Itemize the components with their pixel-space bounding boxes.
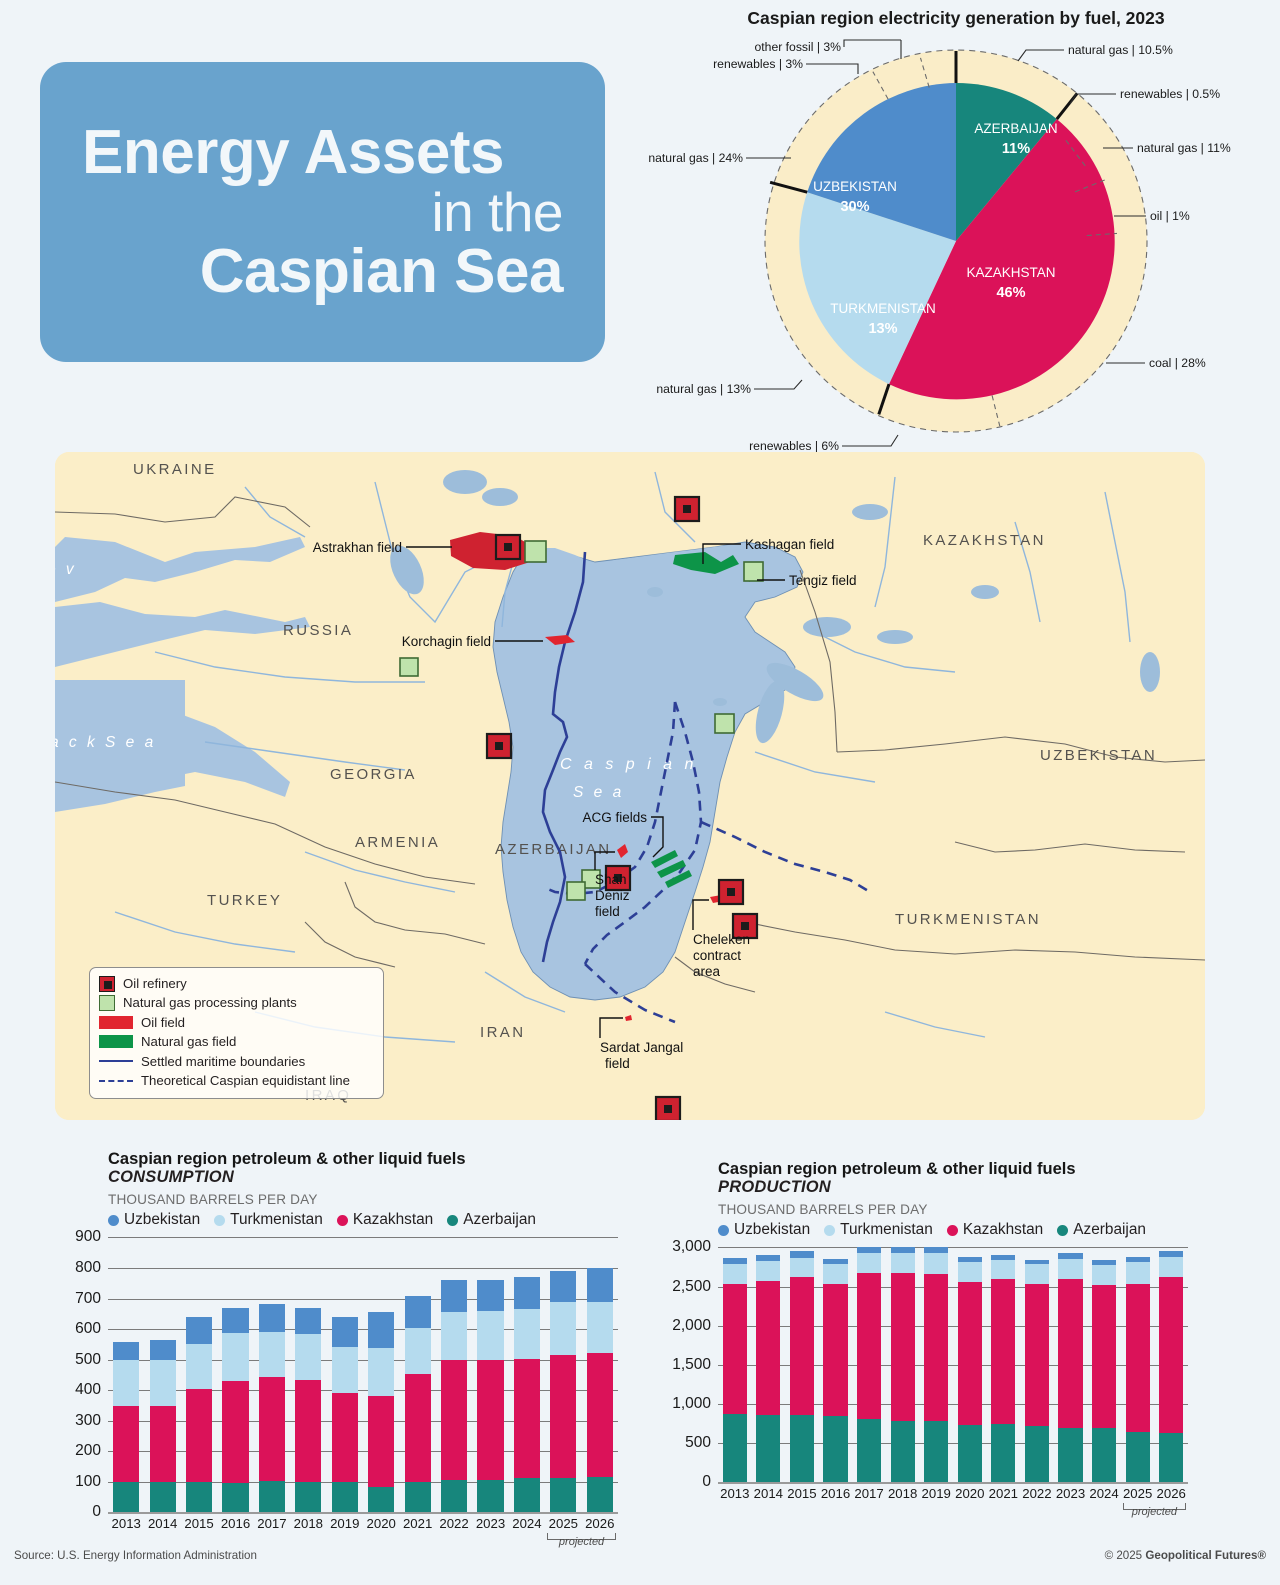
- segment-azerbaijan-2021: [405, 1482, 431, 1513]
- map-label-russia: RUSSIA: [283, 622, 353, 639]
- leader-renewables-kz: [842, 435, 898, 446]
- callout-coal-kz: coal | 28%: [1149, 356, 1206, 370]
- segment-azerbaijan-2018: [891, 1421, 915, 1483]
- map-label-azerbaijan: AZERBAIJAN: [495, 841, 612, 858]
- segment-azerbaijan-2023: [1058, 1428, 1082, 1483]
- production-chart-subtitle: PRODUCTION: [718, 1178, 1188, 1197]
- production-x-axis: 2013201420152016201720182019202020212022…: [718, 1482, 1188, 1520]
- production-chart-title: Caspian region petroleum & other liquid …: [718, 1160, 1188, 1178]
- gas-field-icon: [99, 1035, 133, 1048]
- segment-kazakhstan-2024: [514, 1359, 540, 1478]
- map-annotation-shahdeniz-3: field: [595, 904, 620, 919]
- map-label-turkmenistan: TURKMENISTAN: [895, 911, 1041, 928]
- bar-2015[interactable]: [186, 1237, 212, 1512]
- y-tick-1500: 1,500: [672, 1356, 718, 1374]
- legend-row-oil-refinery: Oil refinery: [99, 974, 374, 993]
- map-label-caspian-sea-2: S e a: [573, 784, 624, 801]
- x-tick-2026: 2026: [1154, 1486, 1188, 1501]
- map-label-azov-2: a: [55, 587, 59, 604]
- infographic-title-card: Energy Assets in the Caspian Sea: [40, 62, 605, 362]
- legend-text-turkmenistan: Turkmenistan: [230, 1211, 323, 1229]
- segment-azerbaijan-2025: [1126, 1432, 1150, 1482]
- segment-turkmenistan-2016: [823, 1264, 847, 1284]
- y-tick-0: 0: [92, 1503, 108, 1521]
- legend-item-uzbekistan-prod: Uzbekistan: [718, 1221, 810, 1239]
- segment-azerbaijan-2026: [587, 1477, 613, 1512]
- map-annotation-tengiz: Tengiz field: [789, 573, 857, 588]
- segment-turkmenistan-2026: [587, 1302, 613, 1353]
- y-tick-800: 800: [75, 1259, 108, 1277]
- x-tick-2018: 2018: [886, 1486, 920, 1501]
- segment-kazakhstan-2014: [756, 1281, 780, 1415]
- gridline-400: [108, 1390, 618, 1391]
- x-tick-2024: 2024: [1087, 1486, 1121, 1501]
- legend-item-kazakhstan-prod: Kazakhstan: [947, 1221, 1043, 1239]
- copyright-prefix: © 2025: [1105, 1549, 1146, 1562]
- consumption-bar-chart: Caspian region petroleum & other liquid …: [108, 1150, 618, 1550]
- segment-turkmenistan-2026: [1159, 1257, 1183, 1277]
- pie-label-azerbaijan-pct: 11%: [1002, 141, 1030, 157]
- y-tick-400: 400: [75, 1381, 108, 1399]
- gridline-3000: [718, 1247, 1188, 1248]
- segment-kazakhstan-2025: [550, 1355, 576, 1478]
- y-tick-600: 600: [75, 1320, 108, 1338]
- legend-item-azerbaijan: Azerbaijan: [447, 1211, 536, 1229]
- segment-uzbekistan-2026: [587, 1268, 613, 1302]
- bar-2014[interactable]: [150, 1237, 176, 1512]
- x-tick-2022: 2022: [436, 1516, 472, 1531]
- map-label-kazakhstan: KAZAKHSTAN: [923, 532, 1046, 549]
- x-tick-2013: 2013: [718, 1486, 752, 1501]
- legend-text-turkmenistan-prod: Turkmenistan: [840, 1221, 933, 1239]
- gridline-1000: [718, 1404, 1188, 1405]
- consumption-chart-units: THOUSAND BARRELS PER DAY: [108, 1192, 618, 1207]
- segment-turkmenistan-2024: [1092, 1265, 1116, 1285]
- copyright-brand: Geopolitical Futures®: [1145, 1549, 1266, 1562]
- map-label-ukraine: UKRAINE: [133, 461, 216, 478]
- legend-row-settled: Settled maritime boundaries: [99, 1052, 374, 1071]
- map-label-turkey: TURKEY: [207, 892, 282, 909]
- projected-label: projected: [547, 1536, 616, 1548]
- x-tick-2021: 2021: [987, 1486, 1021, 1501]
- map-annotation-korchagin: Korchagin field: [402, 634, 491, 649]
- segment-azerbaijan-2022: [441, 1480, 467, 1512]
- bar-2020[interactable]: [368, 1237, 394, 1512]
- segment-azerbaijan-2016: [222, 1483, 248, 1512]
- bar-2024[interactable]: [514, 1237, 540, 1512]
- gridline-1500: [718, 1365, 1188, 1366]
- segment-azerbaijan-2019: [924, 1421, 948, 1483]
- leader-other-fossil: [844, 40, 901, 47]
- segment-kazakhstan-2013: [723, 1284, 747, 1414]
- segment-kazakhstan-2019: [332, 1393, 358, 1482]
- x-tick-2019: 2019: [327, 1516, 363, 1531]
- segment-kazakhstan-2018: [295, 1380, 321, 1481]
- y-tick-2000: 2,000: [672, 1317, 718, 1335]
- bar-2013[interactable]: [723, 1247, 747, 1482]
- gas-plant-russia: [400, 658, 418, 676]
- legend-item-turkmenistan: Turkmenistan: [214, 1211, 323, 1229]
- gas-plant-astrakhan: [525, 541, 546, 562]
- y-tick-300: 300: [75, 1412, 108, 1430]
- gridline-700: [108, 1299, 618, 1300]
- segment-kazakhstan-2015: [186, 1389, 212, 1482]
- segment-kazakhstan-2019: [924, 1274, 948, 1421]
- segment-uzbekistan-2022: [441, 1280, 467, 1312]
- segment-kazakhstan-2016: [222, 1381, 248, 1483]
- segment-turkmenistan-2021: [405, 1328, 431, 1374]
- segment-turkmenistan-2025: [1126, 1262, 1150, 1283]
- x-tick-2018: 2018: [290, 1516, 326, 1531]
- bar-2017[interactable]: [259, 1237, 285, 1512]
- segment-kazakhstan-2021: [405, 1374, 431, 1482]
- callout-renewables-az: renewables | 0.5%: [1120, 87, 1220, 101]
- gridline-100: [108, 1482, 618, 1483]
- pie-label-uzbekistan-pct: 30%: [840, 199, 869, 215]
- pie-label-uzbekistan-name: UZBEKISTAN: [813, 179, 897, 194]
- segment-azerbaijan-2014: [150, 1482, 176, 1513]
- bar-2025[interactable]: [550, 1237, 576, 1512]
- segment-turkmenistan-2017: [857, 1253, 881, 1273]
- segment-kazakhstan-2017: [259, 1377, 285, 1481]
- bar-2016[interactable]: [222, 1237, 248, 1512]
- source-note: Source: U.S. Energy Information Administ…: [14, 1549, 257, 1562]
- segment-turkmenistan-2014: [756, 1261, 780, 1281]
- title-line-1: Energy Assets: [82, 121, 563, 184]
- segment-turkmenistan-2014: [150, 1360, 176, 1406]
- legend-dot-azerbaijan: [447, 1215, 458, 1226]
- segment-turkmenistan-2013: [113, 1360, 139, 1406]
- segment-kazakhstan-2024: [1092, 1285, 1116, 1428]
- leader-natgas-tm: [754, 380, 802, 389]
- segment-kazakhstan-2023: [1058, 1279, 1082, 1428]
- segment-kazakhstan-2017: [857, 1273, 881, 1419]
- leader-natgas-az: [1018, 50, 1064, 61]
- bar-2017[interactable]: [857, 1247, 881, 1482]
- title-line-2: in the: [82, 184, 563, 240]
- map-annotation-sardat-2: field: [605, 1056, 630, 1071]
- pie-label-turkmenistan-name: TURKMENISTAN: [830, 301, 936, 316]
- callout-natgas-az: natural gas | 10.5%: [1068, 43, 1173, 57]
- legend-label-equidistant: Theoretical Caspian equidistant line: [141, 1071, 350, 1090]
- bar-2018[interactable]: [891, 1247, 915, 1482]
- segment-kazakhstan-2013: [113, 1406, 139, 1482]
- x-tick-2025: 2025: [545, 1516, 581, 1531]
- segment-azerbaijan-2015: [186, 1482, 212, 1513]
- legend-label-gas-plants: Natural gas processing plants: [123, 993, 297, 1012]
- legend-item-kazakhstan: Kazakhstan: [337, 1211, 433, 1229]
- segment-uzbekistan-2020: [368, 1312, 394, 1348]
- segment-azerbaijan-2019: [332, 1482, 358, 1513]
- segment-azerbaijan-2020: [958, 1425, 982, 1482]
- oil-refinery-icon: [99, 976, 115, 992]
- leader-renewables-uz: [806, 64, 858, 74]
- segment-turkmenistan-2024: [514, 1309, 540, 1359]
- map-annotation-acg: ACG fields: [582, 810, 647, 825]
- gas-plant-tengiz: [744, 562, 763, 581]
- y-tick-0: 0: [702, 1473, 718, 1491]
- segment-uzbekistan-2019: [332, 1317, 358, 1348]
- pie-label-turkmenistan-pct: 13%: [868, 321, 897, 337]
- x-tick-2026: 2026: [582, 1516, 618, 1531]
- x-tick-2016: 2016: [217, 1516, 253, 1531]
- x-tick-2014: 2014: [752, 1486, 786, 1501]
- segment-kazakhstan-2014: [150, 1406, 176, 1482]
- segment-turkmenistan-2018: [295, 1334, 321, 1380]
- bar-2021[interactable]: [405, 1237, 431, 1512]
- x-tick-2017: 2017: [852, 1486, 886, 1501]
- gas-plant-icon: [99, 995, 115, 1011]
- bar-2026[interactable]: [1159, 1247, 1183, 1482]
- x-tick-2023: 2023: [1054, 1486, 1088, 1501]
- bar-2019[interactable]: [332, 1237, 358, 1512]
- legend-label-settled: Settled maritime boundaries: [141, 1052, 305, 1071]
- y-tick-900: 900: [75, 1228, 108, 1246]
- gridline-900: [108, 1237, 618, 1238]
- consumption-x-axis: 2013201420152016201720182019202020212022…: [108, 1512, 618, 1550]
- y-tick-200: 200: [75, 1442, 108, 1460]
- segment-azerbaijan-2015: [790, 1415, 814, 1482]
- callout-natgas-kz: natural gas | 11%: [1137, 141, 1231, 155]
- copyright-note: © 2025 Geopolitical Futures®: [1105, 1549, 1266, 1562]
- y-tick-100: 100: [75, 1473, 108, 1491]
- bar-2026[interactable]: [587, 1237, 613, 1512]
- bar-2019[interactable]: [924, 1247, 948, 1482]
- segment-kazakhstan-2020: [958, 1282, 982, 1425]
- segment-kazakhstan-2023: [477, 1360, 503, 1480]
- map-annotation-astrakhan: Astrakhan field: [313, 540, 402, 555]
- legend-text-azerbaijan: Azerbaijan: [463, 1211, 536, 1229]
- segment-kazakhstan-2026: [587, 1353, 613, 1478]
- segment-turkmenistan-2016: [222, 1333, 248, 1380]
- segment-turkmenistan-2020: [958, 1262, 982, 1282]
- x-tick-2015: 2015: [181, 1516, 217, 1531]
- legend-item-turkmenistan-prod: Turkmenistan: [824, 1221, 933, 1239]
- segment-azerbaijan-2022: [1025, 1426, 1049, 1483]
- map-label-iran: IRAN: [480, 1024, 525, 1041]
- legend-dot-azerbaijan-prod: [1057, 1225, 1068, 1236]
- map-annotation-shahdeniz-2: Deniz: [595, 888, 630, 903]
- segment-azerbaijan-2013: [113, 1482, 139, 1513]
- segment-uzbekistan-2016: [222, 1308, 248, 1333]
- consumption-plot-area: 0100200300400500600700800900: [108, 1237, 618, 1512]
- gridline-800: [108, 1268, 618, 1269]
- x-tick-2024: 2024: [509, 1516, 545, 1531]
- x-tick-2021: 2021: [399, 1516, 435, 1531]
- gridline-600: [108, 1329, 618, 1330]
- bar-2023[interactable]: [1058, 1247, 1082, 1482]
- bar-2022[interactable]: [441, 1237, 467, 1512]
- bar-2015[interactable]: [790, 1247, 814, 1482]
- x-tick-2020: 2020: [953, 1486, 987, 1501]
- segment-turkmenistan-2020: [368, 1348, 394, 1396]
- gridline-500: [108, 1360, 618, 1361]
- segment-kazakhstan-2020: [368, 1396, 394, 1487]
- x-tick-2025: 2025: [1121, 1486, 1155, 1501]
- segment-azerbaijan-2024: [514, 1478, 540, 1512]
- production-plot-area: 05001,0001,5002,0002,5003,000: [718, 1247, 1188, 1482]
- callout-natgas-tm: natural gas | 13%: [656, 382, 751, 396]
- legend-dot-turkmenistan: [214, 1215, 225, 1226]
- segment-kazakhstan-2022: [1025, 1284, 1049, 1426]
- segment-turkmenistan-2021: [991, 1260, 1015, 1280]
- segment-azerbaijan-2016: [823, 1416, 847, 1482]
- segment-azerbaijan-2020: [368, 1487, 394, 1513]
- bar-2021[interactable]: [991, 1247, 1015, 1482]
- segment-turkmenistan-2023: [1058, 1259, 1082, 1279]
- legend-label-oil-refinery: Oil refinery: [123, 974, 187, 993]
- y-tick-1000: 1,000: [672, 1395, 718, 1413]
- bar-2013[interactable]: [113, 1237, 139, 1512]
- bar-2023[interactable]: [477, 1237, 503, 1512]
- y-tick-3000: 3,000: [672, 1238, 718, 1256]
- x-tick-2015: 2015: [785, 1486, 819, 1501]
- legend-dot-uzbekistan: [108, 1215, 119, 1226]
- segment-kazakhstan-2021: [991, 1279, 1015, 1424]
- segment-uzbekistan-2021: [405, 1296, 431, 1328]
- x-tick-2022: 2022: [1020, 1486, 1054, 1501]
- pie-label-kazakhstan-pct: 46%: [996, 285, 1025, 301]
- legend-text-azerbaijan-prod: Azerbaijan: [1073, 1221, 1146, 1239]
- legend-dot-kazakhstan-prod: [947, 1225, 958, 1236]
- segment-uzbekistan-2025: [550, 1271, 576, 1302]
- map-annotation-cheleken-1: Cheleken: [693, 932, 750, 947]
- x-tick-2014: 2014: [144, 1516, 180, 1531]
- map-annotation-cheleken-2: contract: [693, 948, 741, 963]
- segment-turkmenistan-2015: [790, 1258, 814, 1278]
- legend-text-uzbekistan: Uzbekistan: [124, 1211, 200, 1229]
- segment-azerbaijan-2018: [295, 1482, 321, 1513]
- segment-uzbekistan-2024: [514, 1277, 540, 1308]
- x-tick-2019: 2019: [919, 1486, 953, 1501]
- gridline-2000: [718, 1326, 1188, 1327]
- callout-other-fossil: other fossil | 3%: [755, 40, 842, 54]
- electricity-generation-pie-chart: Caspian region electricity generation by…: [636, 4, 1276, 459]
- map-annotation-sardat-1: Sardat Jangal: [600, 1040, 683, 1055]
- segment-azerbaijan-2026: [1159, 1433, 1183, 1482]
- callout-natgas-uz: natural gas | 24%: [648, 151, 743, 165]
- legend-row-gas-field: Natural gas field: [99, 1032, 374, 1051]
- segment-turkmenistan-2022: [1025, 1264, 1049, 1284]
- segment-uzbekistan-2013: [113, 1342, 139, 1360]
- segment-uzbekistan-2015: [186, 1317, 212, 1344]
- segment-azerbaijan-2025: [550, 1478, 576, 1512]
- segment-turkmenistan-2022: [441, 1312, 467, 1360]
- bar-2024[interactable]: [1092, 1247, 1116, 1482]
- segment-turkmenistan-2013: [723, 1264, 747, 1284]
- pie-label-kazakhstan-name: KAZAKHSTAN: [966, 265, 1055, 280]
- segment-kazakhstan-2015: [790, 1277, 814, 1415]
- map-label-black-sea: a c k S e a: [55, 734, 156, 751]
- segment-uzbekistan-2014: [150, 1340, 176, 1360]
- bar-2020[interactable]: [958, 1247, 982, 1482]
- segment-azerbaijan-2017: [857, 1419, 881, 1483]
- bar-2022[interactable]: [1025, 1247, 1049, 1482]
- x-tick-2023: 2023: [472, 1516, 508, 1531]
- production-chart-units: THOUSAND BARRELS PER DAY: [718, 1202, 1188, 1217]
- consumption-chart-legend: Uzbekistan Turkmenistan Kazakhstan Azerb…: [108, 1211, 618, 1229]
- bar-2018[interactable]: [295, 1237, 321, 1512]
- map-legend: Oil refinery Natural gas processing plan…: [89, 967, 384, 1099]
- segment-azerbaijan-2017: [259, 1481, 285, 1512]
- gridline-200: [108, 1451, 618, 1452]
- segment-turkmenistan-2017: [259, 1332, 285, 1377]
- segment-turkmenistan-2019: [332, 1347, 358, 1392]
- legend-text-uzbekistan-prod: Uzbekistan: [734, 1221, 810, 1239]
- callout-renewables-kz: renewables | 6%: [749, 439, 839, 453]
- bar-2025[interactable]: [1126, 1247, 1150, 1482]
- map-annotation-shahdeniz-1: Shah: [595, 872, 627, 887]
- gridline-2500: [718, 1287, 1188, 1288]
- map-label-caspian-sea-1: C a s p i a n: [560, 756, 697, 773]
- segment-azerbaijan-2013: [723, 1414, 747, 1482]
- oil-field-icon: [99, 1016, 133, 1029]
- segment-turkmenistan-2015: [186, 1344, 212, 1390]
- segment-turkmenistan-2019: [924, 1253, 948, 1274]
- consumption-chart-title: Caspian region petroleum & other liquid …: [108, 1150, 618, 1168]
- bar-2014[interactable]: [756, 1247, 780, 1482]
- gridline-500: [718, 1443, 1188, 1444]
- x-tick-2013: 2013: [108, 1516, 144, 1531]
- legend-label-gas-field: Natural gas field: [141, 1032, 236, 1051]
- legend-row-gas-plants: Natural gas processing plants: [99, 993, 374, 1012]
- map-annotation-kashagan: Kashagan field: [745, 537, 834, 552]
- legend-row-equidistant: Theoretical Caspian equidistant line: [99, 1071, 374, 1090]
- bar-2016[interactable]: [823, 1247, 847, 1482]
- callout-oil-kz: oil | 1%: [1150, 209, 1190, 223]
- map-label-uzbekistan: UZBEKISTAN: [1040, 747, 1157, 764]
- gas-plant-az-2: [567, 882, 585, 900]
- segment-uzbekistan-2017: [259, 1304, 285, 1332]
- gas-plant-kazakhstan: [715, 714, 734, 733]
- segment-turkmenistan-2018: [891, 1253, 915, 1273]
- map-label-georgia: GEORGIA: [330, 766, 417, 783]
- callout-renewables-uz: renewables | 3%: [713, 57, 803, 71]
- legend-text-kazakhstan: Kazakhstan: [353, 1211, 433, 1229]
- consumption-chart-subtitle: CONSUMPTION: [108, 1168, 618, 1187]
- segment-azerbaijan-2021: [991, 1424, 1015, 1482]
- segment-turkmenistan-2025: [550, 1302, 576, 1355]
- settled-boundary-icon: [99, 1060, 133, 1062]
- segment-azerbaijan-2014: [756, 1415, 780, 1482]
- x-tick-2017: 2017: [254, 1516, 290, 1531]
- projected-label: projected: [1123, 1506, 1186, 1518]
- y-tick-700: 700: [75, 1290, 108, 1308]
- map-label-armenia: ARMENIA: [355, 834, 440, 851]
- segment-kazakhstan-2022: [441, 1360, 467, 1480]
- legend-item-uzbekistan: Uzbekistan: [108, 1211, 200, 1229]
- segment-kazakhstan-2025: [1126, 1284, 1150, 1433]
- legend-dot-turkmenistan-prod: [824, 1225, 835, 1236]
- legend-row-oil-field: Oil field: [99, 1013, 374, 1032]
- segment-uzbekistan-2018: [295, 1308, 321, 1334]
- segment-uzbekistan-2023: [477, 1280, 503, 1311]
- legend-dot-kazakhstan: [337, 1215, 348, 1226]
- production-chart-legend: Uzbekistan Turkmenistan Kazakhstan Azerb…: [718, 1221, 1188, 1239]
- map-annotation-cheleken-3: area: [693, 964, 721, 979]
- y-tick-500: 500: [685, 1434, 718, 1452]
- production-bar-chart: Caspian region petroleum & other liquid …: [718, 1160, 1188, 1550]
- x-tick-2016: 2016: [819, 1486, 853, 1501]
- legend-text-kazakhstan-prod: Kazakhstan: [963, 1221, 1043, 1239]
- segment-kazakhstan-2016: [823, 1284, 847, 1416]
- legend-label-oil-field: Oil field: [141, 1013, 185, 1032]
- y-tick-2500: 2,500: [672, 1278, 718, 1296]
- title-line-3: Caspian Sea: [82, 240, 563, 303]
- legend-item-azerbaijan-prod: Azerbaijan: [1057, 1221, 1146, 1239]
- pie-chart-svg: AZERBAIJAN 11% KAZAKHSTAN 46% TURKMENIST…: [636, 26, 1276, 456]
- segment-azerbaijan-2023: [477, 1480, 503, 1512]
